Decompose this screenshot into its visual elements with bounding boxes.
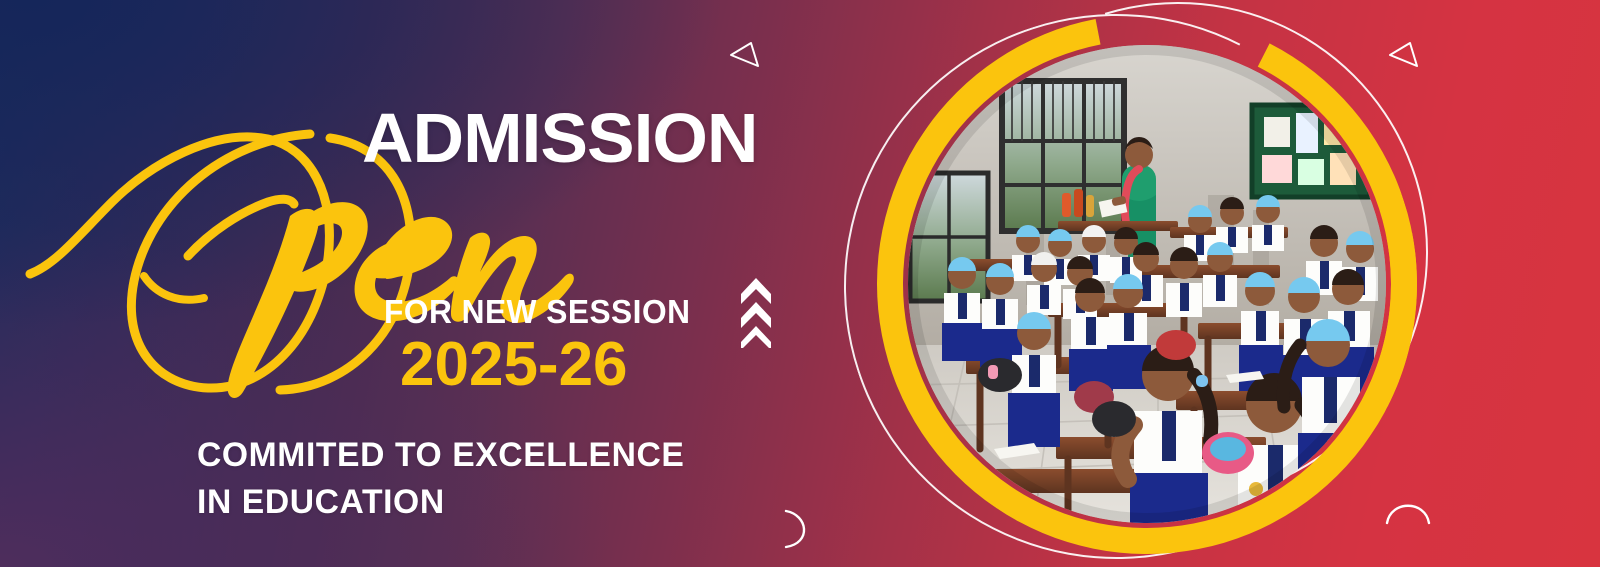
- triangle-outline-icon: [728, 40, 762, 70]
- tagline-line-1: COMMITED TO EXCELLENCE: [197, 432, 684, 479]
- page-title: ADMISSION: [362, 103, 757, 173]
- subline-text: FOR NEW SESSION: [384, 295, 690, 328]
- classroom-photo-frame: [832, 0, 1442, 567]
- arc-crescent-icon: [778, 505, 818, 553]
- banner-copy-block: ADMISSION FOR NEW SESSION 2025-26 COMMIT…: [0, 0, 830, 567]
- classroom-photo: [908, 45, 1386, 523]
- chevron-up-stack-icon: [733, 272, 779, 348]
- tagline: COMMITED TO EXCELLENCE IN EDUCATION: [197, 432, 684, 526]
- admission-open-banner: ADMISSION FOR NEW SESSION 2025-26 COMMIT…: [0, 0, 1600, 567]
- tagline-line-2: IN EDUCATION: [197, 479, 684, 526]
- session-year: 2025-26: [400, 334, 628, 396]
